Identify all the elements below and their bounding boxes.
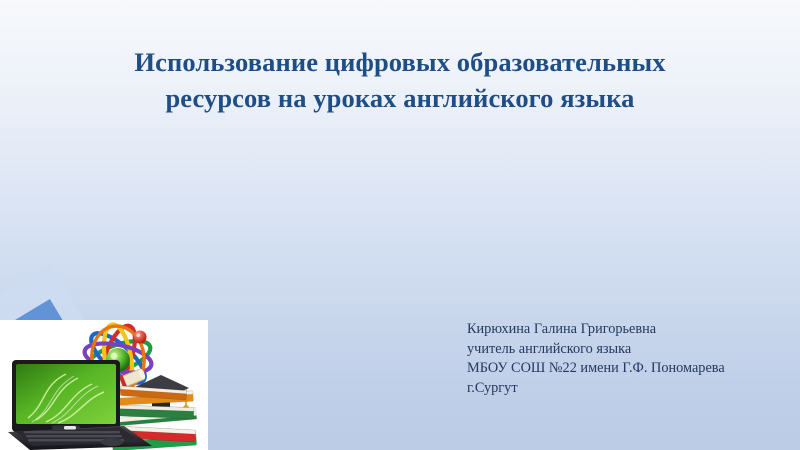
presentation-title-slide: Использование цифровых образовательных р… — [0, 0, 800, 450]
author-position: учитель английского языка — [467, 340, 787, 360]
education-clipart-image — [0, 320, 208, 450]
author-info: Кирюхина Галина Григорьевна учитель англ… — [467, 320, 787, 398]
author-name: Кирюхина Галина Григорьевна — [467, 320, 787, 340]
author-school: МБОУ СОШ №22 имени Г.Ф. Пономарева — [467, 359, 787, 379]
slide-title: Использование цифровых образовательных р… — [100, 44, 700, 116]
title-line-1: Использование цифровых образовательных — [100, 44, 700, 80]
title-line-2: ресурсов на уроках английского языка — [100, 80, 700, 116]
author-city: г.Сургут — [467, 379, 787, 399]
